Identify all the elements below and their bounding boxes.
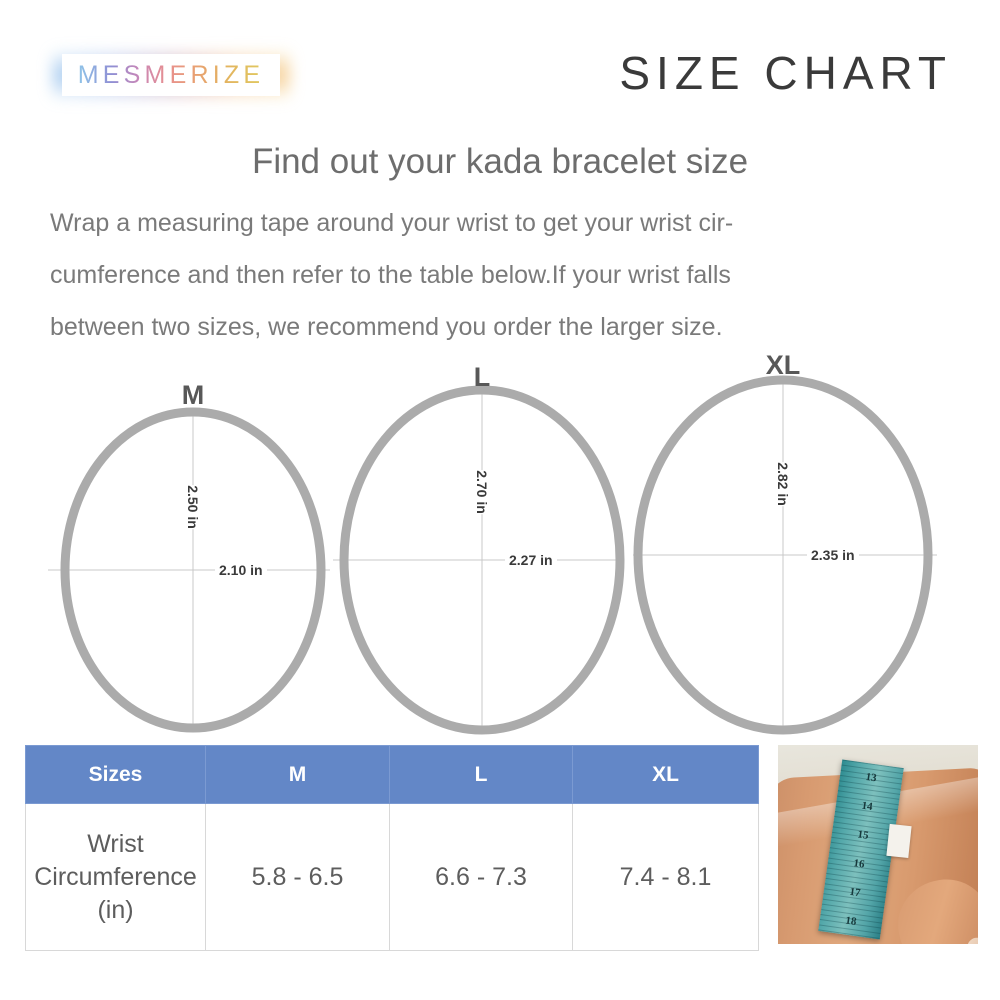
page-title: SIZE CHART xyxy=(619,46,952,100)
intro-paragraph: Wrap a measuring tape around your wrist … xyxy=(50,197,960,353)
size-table: Sizes M L XL Wrist Circumference (in) 5.… xyxy=(25,745,759,951)
table-header-sizes: Sizes xyxy=(26,746,206,804)
tape-mark-13: 13 xyxy=(865,771,878,784)
table-header-m: M xyxy=(206,746,390,804)
table-header-l: L xyxy=(390,746,573,804)
bangle-width-m: 2.10 in xyxy=(215,562,267,578)
wrist-measurement-photo: 13 14 15 16 17 18 xyxy=(778,745,978,944)
row-label-wrist-circumference: Wrist Circumference (in) xyxy=(26,804,206,951)
bangle-oval-m xyxy=(40,380,355,740)
tape-mark-15: 15 xyxy=(857,828,870,841)
bangle-diagram-m: M 2.50 in 2.10 in xyxy=(40,380,355,740)
logo-card: MESMERIZE xyxy=(62,54,280,96)
row-label-line-3: (in) xyxy=(97,896,133,924)
bangle-size-label-m: M xyxy=(182,380,205,411)
bangle-width-l: 2.27 in xyxy=(505,552,557,568)
headline: Find out your kada bracelet size xyxy=(0,142,1000,182)
row-label-line-2: Circumference xyxy=(34,863,197,891)
photo-thumbnail xyxy=(964,934,978,944)
cell-wrist-m: 5.8 - 6.5 xyxy=(206,804,390,951)
bangle-diagram-l: L 2.70 in 2.27 in xyxy=(325,362,645,740)
table-row: Wrist Circumference (in) 5.8 - 6.5 6.6 -… xyxy=(26,804,759,951)
row-label-line-1: Wrist xyxy=(87,830,143,858)
bangle-width-xl: 2.35 in xyxy=(807,547,859,563)
bangle-height-xl: 2.82 in xyxy=(771,462,795,506)
bangle-oval-xl xyxy=(625,350,965,740)
cell-wrist-xl: 7.4 - 8.1 xyxy=(573,804,759,951)
tape-mark-18: 18 xyxy=(845,914,858,927)
bangle-height-l: 2.70 in xyxy=(470,470,494,514)
size-chart-page: MESMERIZE SIZE CHART Find out your kada … xyxy=(0,0,1000,1000)
table-header-row: Sizes M L XL xyxy=(26,746,759,804)
tape-mark-14: 14 xyxy=(861,800,874,813)
intro-line-3: between two sizes, we recommend you orde… xyxy=(50,301,960,353)
brand-logo: MESMERIZE xyxy=(52,44,290,106)
tape-mark-17: 17 xyxy=(849,886,862,899)
logo-text: MESMERIZE xyxy=(78,61,264,90)
bangle-height-m: 2.50 in xyxy=(181,485,205,529)
cell-wrist-l: 6.6 - 7.3 xyxy=(390,804,573,951)
photo-tape-tag xyxy=(886,824,911,858)
bangle-oval-l xyxy=(325,362,645,740)
bangle-diagrams: M 2.50 in 2.10 in L 2.70 in 2.27 in XL xyxy=(0,350,1000,740)
bangle-size-label-xl: XL xyxy=(766,350,801,381)
intro-line-1: Wrap a measuring tape around your wrist … xyxy=(50,197,960,249)
bangle-diagram-xl: XL 2.82 in 2.35 in xyxy=(625,350,965,740)
bangle-size-label-l: L xyxy=(474,362,491,393)
tape-mark-16: 16 xyxy=(853,857,866,870)
table-header-xl: XL xyxy=(573,746,759,804)
intro-line-2: cumference and then refer to the table b… xyxy=(50,249,960,301)
